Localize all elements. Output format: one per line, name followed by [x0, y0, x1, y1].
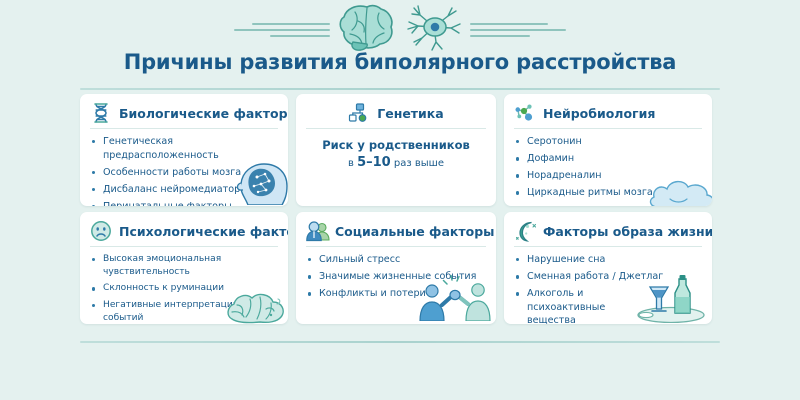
list-item: Перинатальные факторы	[90, 200, 278, 206]
card-item-list: Нарушение сна Сменная работа / Джетлаг А…	[514, 253, 702, 324]
molecule-icon	[514, 102, 536, 124]
card-title: Генетика	[377, 106, 443, 121]
hero-icon-group	[0, 2, 800, 57]
card-genetics[interactable]: Генетика Риск у родственников в 5–10 раз…	[296, 94, 496, 206]
card-header: Генетика	[306, 102, 486, 129]
card-header: Психологические факторы	[90, 220, 278, 247]
list-item: Высокая эмоциональная чувствительность	[90, 253, 278, 279]
list-item: Сильный стресс	[306, 253, 486, 267]
pedigree-icon	[348, 102, 370, 124]
stat-value: 5–10	[357, 155, 391, 170]
divider-bottom	[80, 341, 720, 343]
list-item: Сменная работа / Джетлаг	[514, 270, 702, 284]
decorative-lines-left	[234, 23, 330, 37]
card-title: Факторы образа жизни	[543, 224, 712, 239]
list-item: Генетическая предрасположенность	[90, 135, 278, 162]
card-item-list: Серотонин Дофамин Норадреналин Циркадные…	[514, 135, 702, 200]
card-title: Социальные факторы	[335, 224, 494, 239]
card-header: Социальные факторы	[306, 220, 486, 247]
list-item: Алкоголь и психоактивные вещества	[514, 287, 632, 324]
neuron-icon	[404, 2, 464, 57]
card-header: Нейробиология	[514, 102, 702, 129]
brain-icon	[336, 2, 398, 57]
card-header: Биологические факторы	[90, 102, 278, 129]
card-item-list: Сильный стресс Значимые жизненные событи…	[306, 253, 486, 301]
genetics-stat: Риск у родственников в 5–10 раз выше	[306, 138, 486, 170]
list-item: Серотонин	[514, 135, 702, 149]
stat-prefix: в	[348, 158, 357, 169]
decorative-lines-right	[470, 23, 566, 37]
list-item: Нарушение сна	[514, 253, 702, 267]
card-item-list: Генетическая предрасположенность Особенн…	[90, 135, 278, 206]
stat-line-1: Риск у родственников	[306, 138, 486, 152]
dna-icon	[90, 102, 112, 124]
card-neurobiology[interactable]: Нейробиология Серотонин Дофамин Норадрен…	[504, 94, 712, 206]
card-title: Нейробиология	[543, 106, 655, 121]
card-item-list: Высокая эмоциональная чувствительность С…	[90, 253, 278, 324]
sad-face-icon	[90, 220, 112, 242]
header: Причины развития биполярного расстройств…	[0, 0, 800, 84]
list-item: Склонность к руминации	[90, 282, 278, 295]
divider-top	[80, 88, 720, 90]
cards-grid: Биологические факторы Генетическая предр…	[80, 94, 720, 324]
infographic-page: Причины развития биполярного расстройств…	[0, 0, 800, 400]
card-header: Факторы образа жизни	[514, 220, 702, 247]
moon-stars-icon	[514, 220, 536, 242]
page-title: Причины развития биполярного расстройств…	[0, 50, 800, 74]
card-social[interactable]: Социальные факторы Сильный стресс Значим…	[296, 212, 496, 324]
list-item: Негативные интерпретации событий	[90, 299, 278, 324]
two-people-icon	[306, 220, 328, 242]
list-item: Дофамин	[514, 152, 702, 166]
card-title: Биологические факторы	[119, 106, 288, 121]
list-item: Значимые жизненные события	[306, 270, 486, 284]
list-item: Норадреналин	[514, 169, 702, 183]
card-title: Психологические факторы	[119, 224, 288, 239]
stat-suffix: раз выше	[391, 158, 444, 169]
list-item: Конфликты и потери	[306, 287, 486, 301]
card-biological[interactable]: Биологические факторы Генетическая предр…	[80, 94, 288, 206]
list-item: Дисбаланс нейромедиаторов	[90, 183, 278, 197]
list-item: Особенности работы мозга	[90, 166, 278, 180]
card-lifestyle[interactable]: Факторы образа жизни Нарушение сна Сменн…	[504, 212, 712, 324]
stat-line-2: в 5–10 раз выше	[306, 155, 486, 170]
list-item: Циркадные ритмы мозга	[514, 186, 702, 200]
card-psychological[interactable]: Психологические факторы Высокая эмоциона…	[80, 212, 288, 324]
